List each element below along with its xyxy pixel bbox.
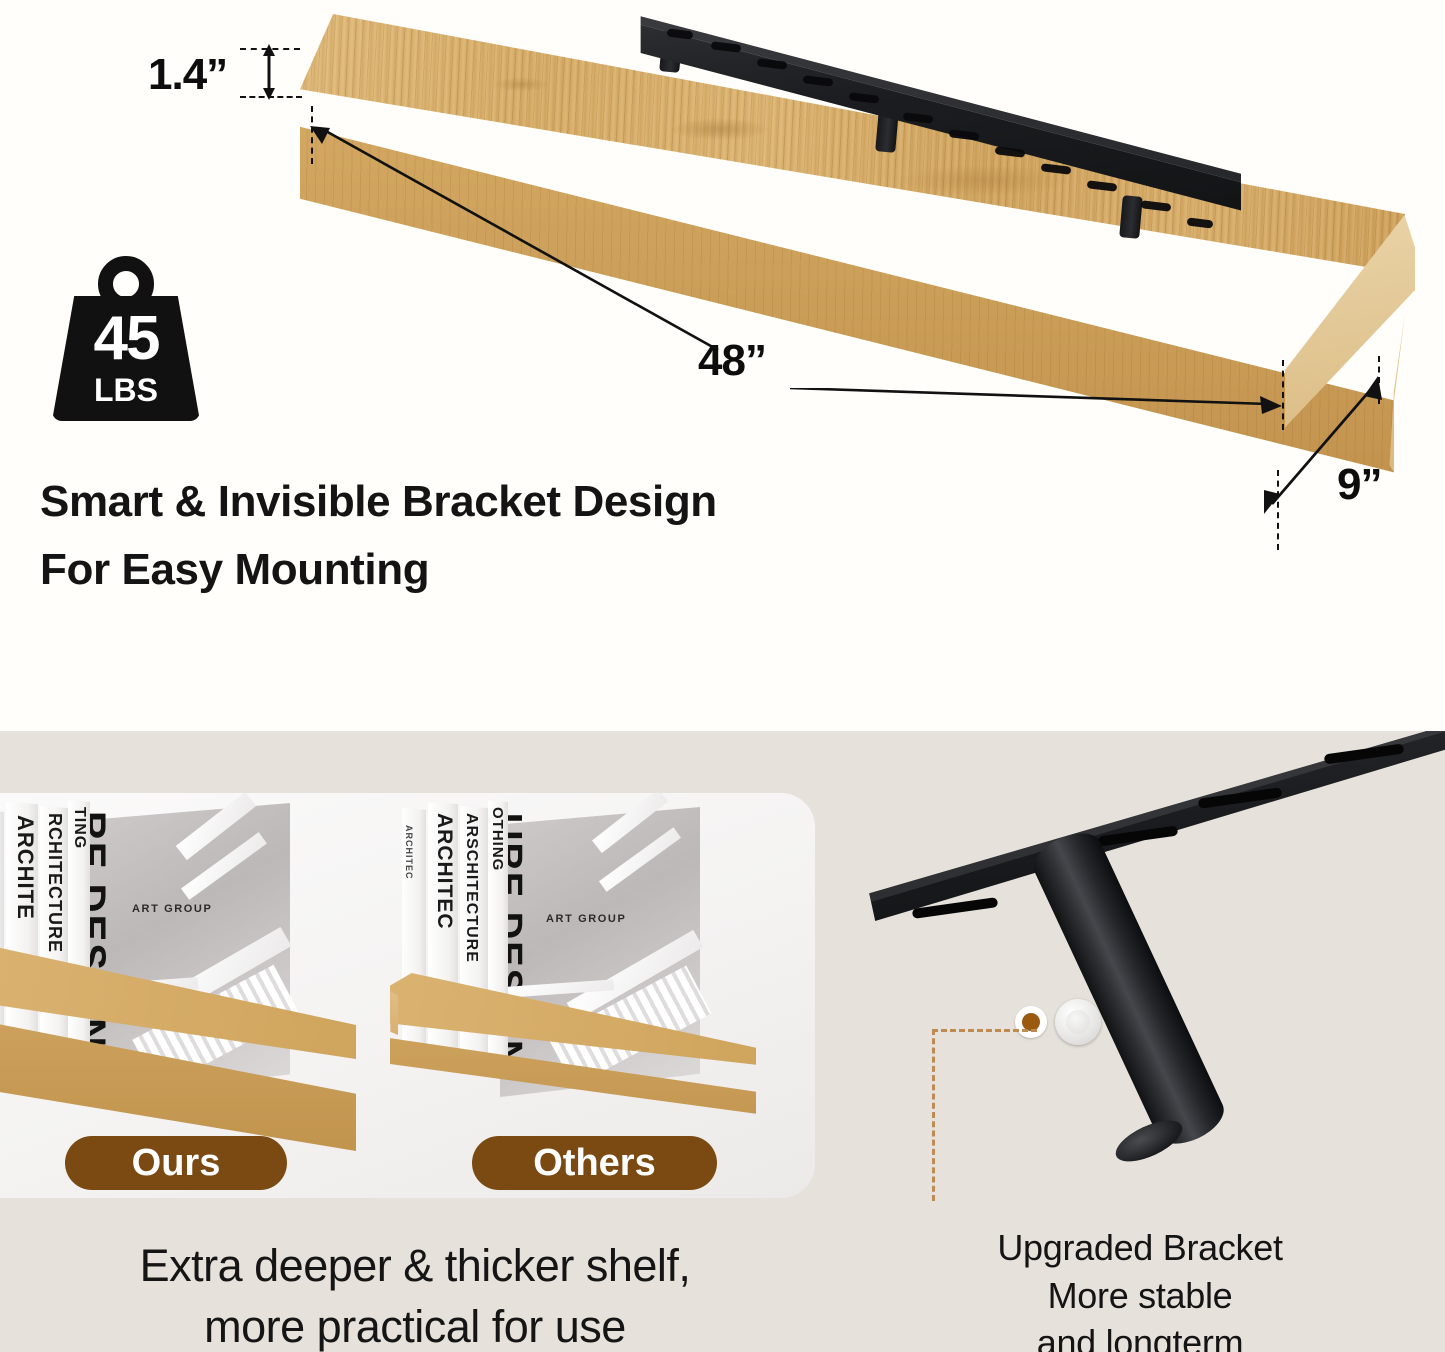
bracket-caption-line-2: More stable — [905, 1272, 1375, 1320]
badge-others: Others — [472, 1136, 717, 1190]
book-spine-label: TING — [70, 807, 88, 849]
book-spine — [0, 810, 4, 1057]
bracket-caption: Upgraded Bracket More stable and longter… — [905, 1224, 1375, 1352]
book-spine-label: RCHITECTURE — [44, 813, 65, 953]
book-spine-label: ARSCHITECTURE — [462, 813, 480, 963]
rail-stub — [1119, 195, 1143, 239]
rail-slot — [1141, 200, 1172, 212]
headline-line-2: For Easy Mounting — [40, 536, 880, 604]
comparison-caption: Extra deeper & thicker shelf, more pract… — [20, 1236, 810, 1352]
book-spine-label: ARCHITEC — [432, 813, 456, 930]
thickness-double-arrow-icon — [256, 44, 282, 102]
bracket-detail-illustration — [870, 731, 1445, 1231]
weight-capacity-badge: 45 LBS — [52, 256, 200, 421]
infographic-stage: 1.4” 48” 9” 45 LBS Sma — [0, 0, 1445, 1352]
bottom-section: RE DESIGN ART GROUP ARCHITE ARCHITE RCHI… — [0, 731, 1445, 1352]
bracket-caption-line-3: and longterm — [905, 1319, 1375, 1352]
headline: Smart & Invisible Bracket Design For Eas… — [40, 468, 880, 604]
rail-slot — [1041, 163, 1072, 175]
book-spine-label: ARCHITEC — [404, 825, 414, 880]
comparison-caption-line-2: more practical for use — [20, 1297, 810, 1352]
comparison-panel-ours: RE DESIGN ART GROUP ARCHITE ARCHITE RCHI… — [0, 793, 390, 1198]
thickness-dimension-label: 1.4” — [148, 50, 227, 100]
bracket-caption-line-1: Upgraded Bracket — [905, 1224, 1375, 1272]
width-leader-left — [300, 118, 720, 368]
big-book-cover-text: ART GROUP — [546, 913, 626, 925]
depth-dimension-label: 9” — [1337, 460, 1381, 510]
book-spine-label: ARCHITE — [12, 815, 38, 920]
book-spine-label: OTHING — [489, 807, 506, 871]
rail-slot — [1187, 217, 1214, 228]
comparison-caption-line-1: Extra deeper & thicker shelf, — [20, 1236, 810, 1297]
bracket-flat-bar — [850, 731, 1445, 963]
big-book-cover-text: ART GROUP — [132, 903, 212, 915]
weight-value: 45 — [52, 308, 200, 370]
width-dimension-label: 48” — [698, 336, 766, 386]
bracket-cap-white-inner — [1066, 1010, 1090, 1034]
top-section: 1.4” 48” 9” 45 LBS Sma — [0, 0, 1445, 731]
headline-line-1: Smart & Invisible Bracket Design — [40, 468, 880, 536]
badge-ours: Ours — [65, 1136, 287, 1190]
comparison-panel-others: URE DESIGN ART GROUP ARCHITEC ARCHITEC A… — [390, 793, 815, 1198]
comparison-card: RE DESIGN ART GROUP ARCHITE ARCHITE RCHI… — [0, 793, 815, 1198]
bracket-support-rod — [1026, 824, 1231, 1154]
weight-unit: LBS — [52, 374, 200, 406]
callout-leader-vertical — [932, 1029, 935, 1201]
rail-slot — [1087, 180, 1118, 192]
callout-leader-horizontal — [932, 1029, 1037, 1032]
